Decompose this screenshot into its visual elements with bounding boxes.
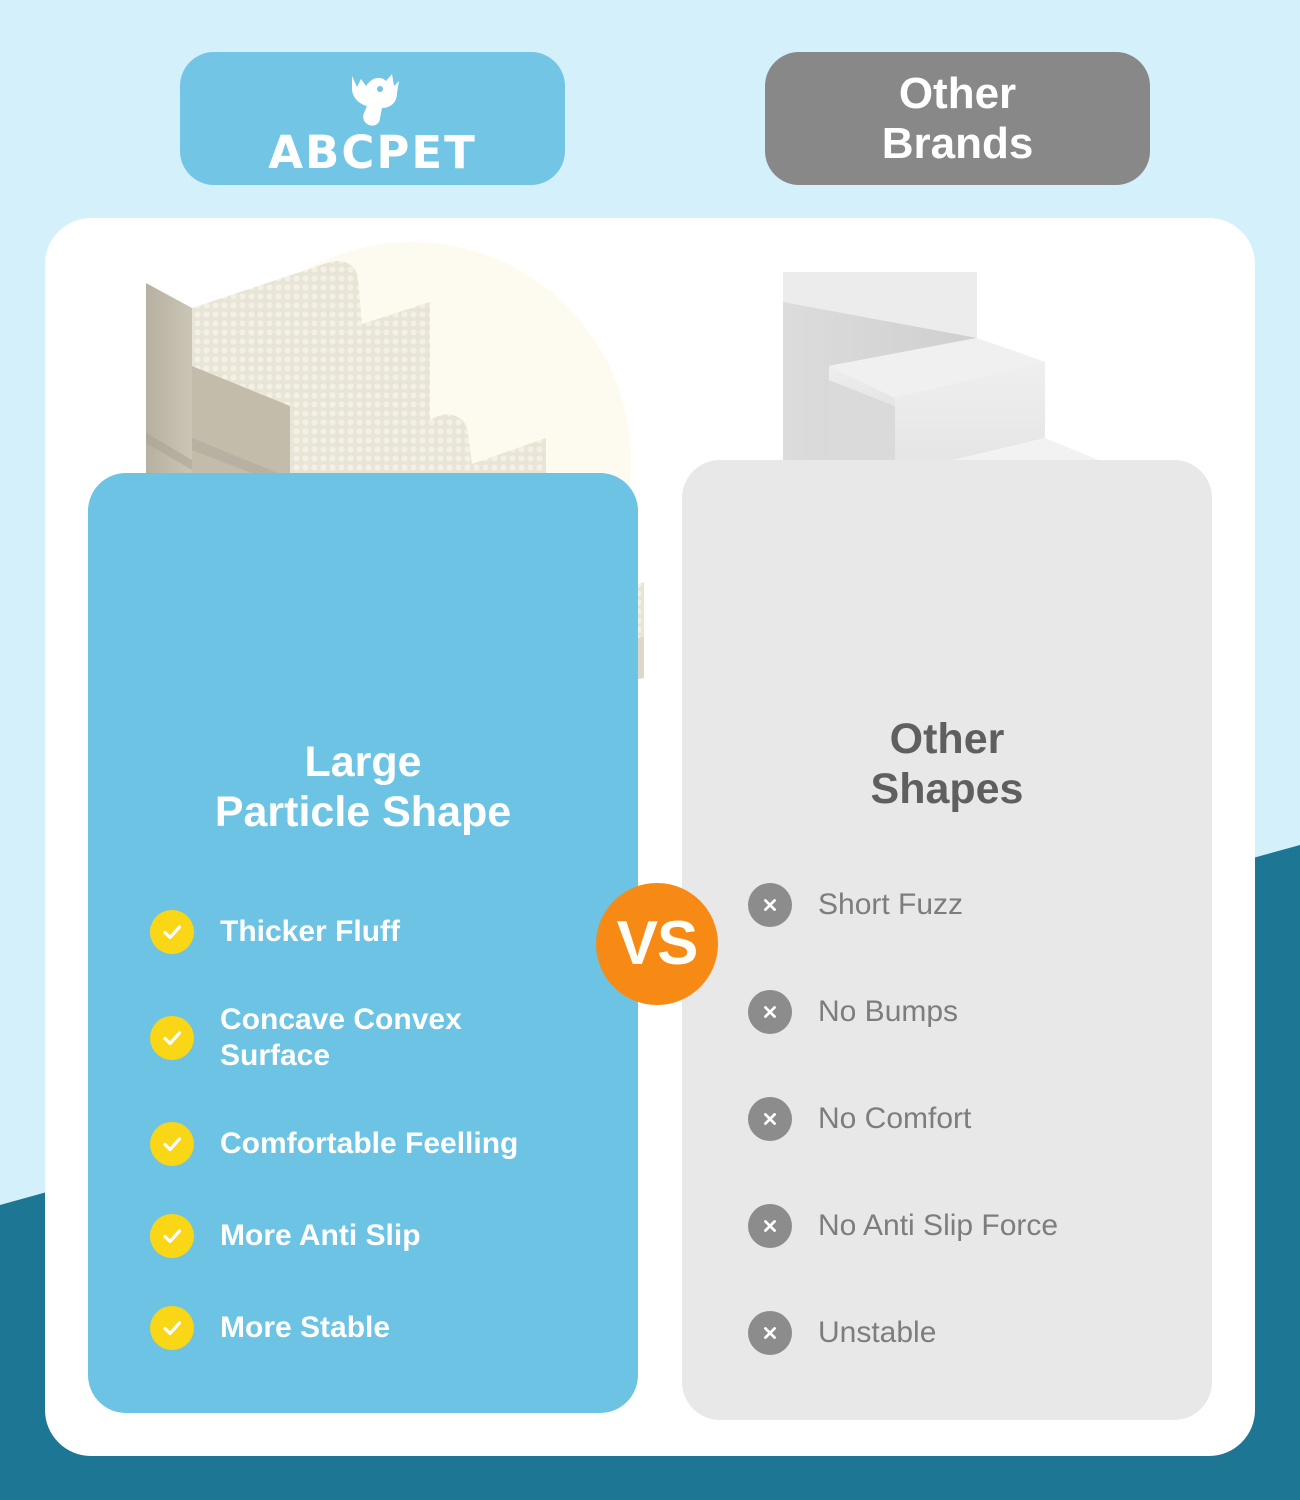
competitor-title-line1: Other <box>899 69 1016 118</box>
cross-icon <box>748 1097 792 1141</box>
list-item: More Stable <box>150 1306 604 1350</box>
dog-head-icon <box>340 70 406 128</box>
list-item: Short Fuzz <box>748 883 1178 927</box>
cross-icon <box>748 990 792 1034</box>
con-panel: Other Shapes Short Fuzz No Bumps No Comf… <box>682 460 1212 1420</box>
check-icon <box>150 1122 194 1166</box>
list-item: Thicker Fluff <box>150 910 604 954</box>
list-item: No Anti Slip Force <box>748 1204 1178 1248</box>
cross-icon <box>748 1204 792 1248</box>
check-icon <box>150 1016 194 1060</box>
list-item: No Bumps <box>748 990 1178 1034</box>
con-feature-list: Short Fuzz No Bumps No Comfort No Anti S… <box>716 883 1178 1355</box>
cross-icon <box>748 1311 792 1355</box>
brand-badge: ABCPET <box>180 52 565 185</box>
competitor-title-line2: Brands <box>882 119 1034 168</box>
feature-label: More Stable <box>220 1310 390 1346</box>
vs-badge: VS <box>596 883 718 1005</box>
feature-label: Short Fuzz <box>818 887 963 923</box>
brand-wordmark: ABCPET <box>268 130 477 175</box>
check-icon <box>150 1306 194 1350</box>
list-item: More Anti Slip <box>150 1214 604 1258</box>
competitor-badge: Other Brands <box>765 52 1150 185</box>
feature-label: No Bumps <box>818 994 958 1030</box>
feature-label: Unstable <box>818 1315 936 1351</box>
feature-label: No Anti Slip Force <box>818 1208 1058 1244</box>
feature-label: Comfortable Feelling <box>220 1126 518 1162</box>
feature-label: Concave Convex Surface <box>220 1002 462 1074</box>
check-icon <box>150 1214 194 1258</box>
con-panel-heading: Other Shapes <box>716 715 1178 815</box>
list-item: Comfortable Feelling <box>150 1122 604 1166</box>
pro-panel-heading: Large Particle Shape <box>122 738 604 838</box>
pro-feature-list: Thicker Fluff Concave Convex Surface Com… <box>122 910 604 1350</box>
feature-label: No Comfort <box>818 1101 971 1137</box>
list-item: No Comfort <box>748 1097 1178 1141</box>
list-item: Concave Convex Surface <box>150 1002 604 1074</box>
list-item: Unstable <box>748 1311 1178 1355</box>
pro-panel: Large Particle Shape Thicker Fluff Conca… <box>88 473 638 1413</box>
vs-label: VS <box>617 913 698 975</box>
check-icon <box>150 910 194 954</box>
feature-label: Thicker Fluff <box>220 914 400 950</box>
header-row: ABCPET Other Brands <box>0 0 1300 200</box>
cross-icon <box>748 883 792 927</box>
feature-label: More Anti Slip <box>220 1218 421 1254</box>
